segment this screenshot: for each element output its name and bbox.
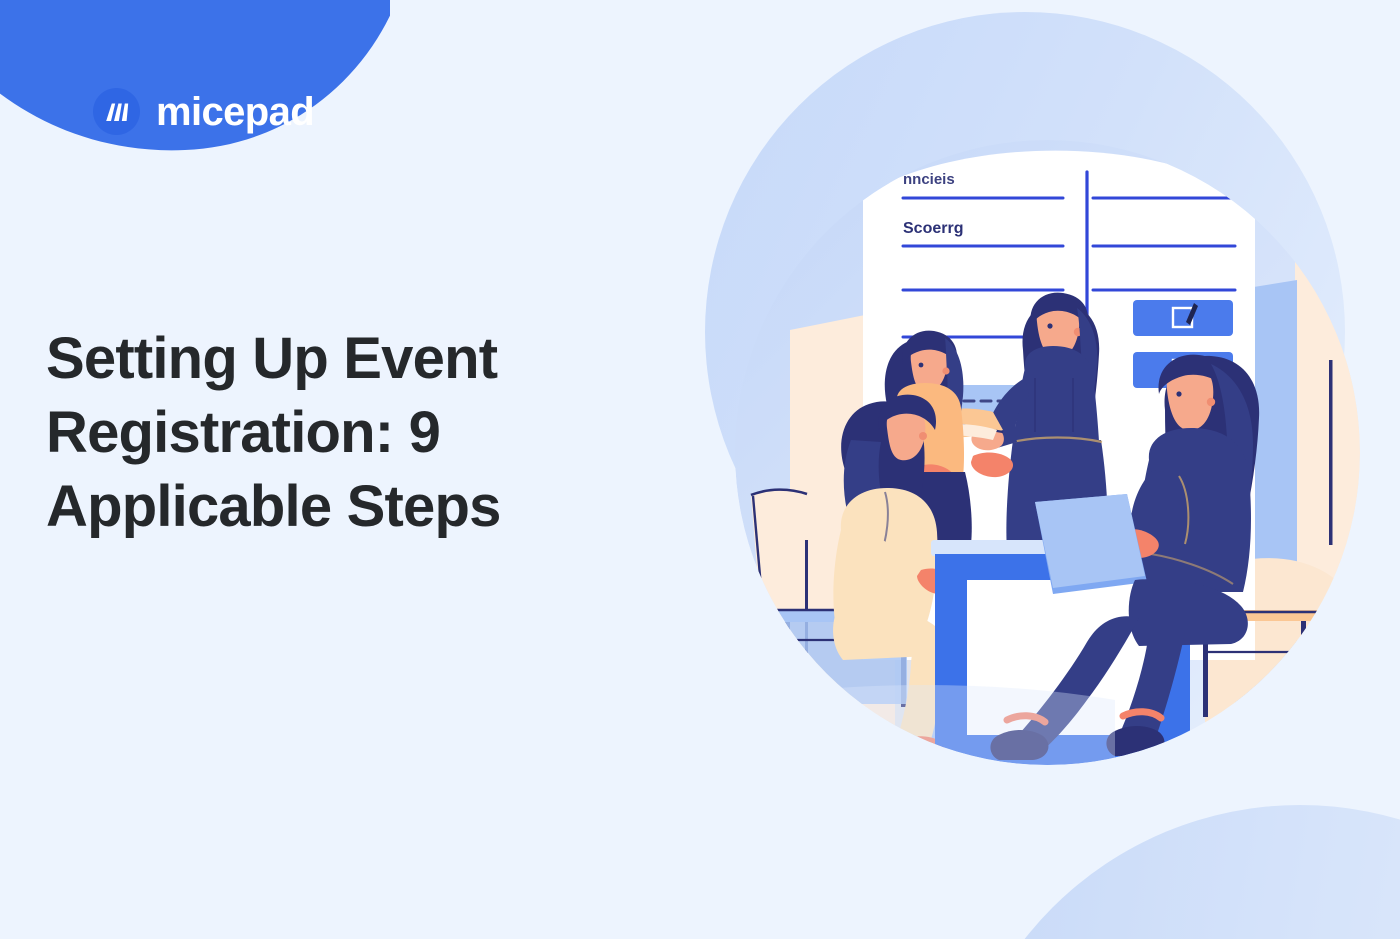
bottom-right-decor-circle bbox=[950, 805, 1400, 939]
brand-blue-blob bbox=[0, 0, 390, 160]
edit-button-top[interactable] bbox=[1133, 300, 1233, 336]
page-title: Setting Up Event Registration: 9 Applica… bbox=[46, 322, 646, 545]
brand-logo[interactable]: micepad bbox=[93, 88, 314, 135]
brand-name: micepad bbox=[156, 92, 314, 132]
event-registration-illustration: nncieis Scoerrg Msarn bbox=[735, 140, 1360, 765]
micepad-m-mark-icon bbox=[93, 88, 140, 135]
form-label-1: nncieis bbox=[903, 171, 955, 188]
poster-canvas: micepad Setting Up Event Registration: 9… bbox=[0, 0, 1400, 939]
form-label-2: Scoerrg bbox=[903, 220, 963, 237]
